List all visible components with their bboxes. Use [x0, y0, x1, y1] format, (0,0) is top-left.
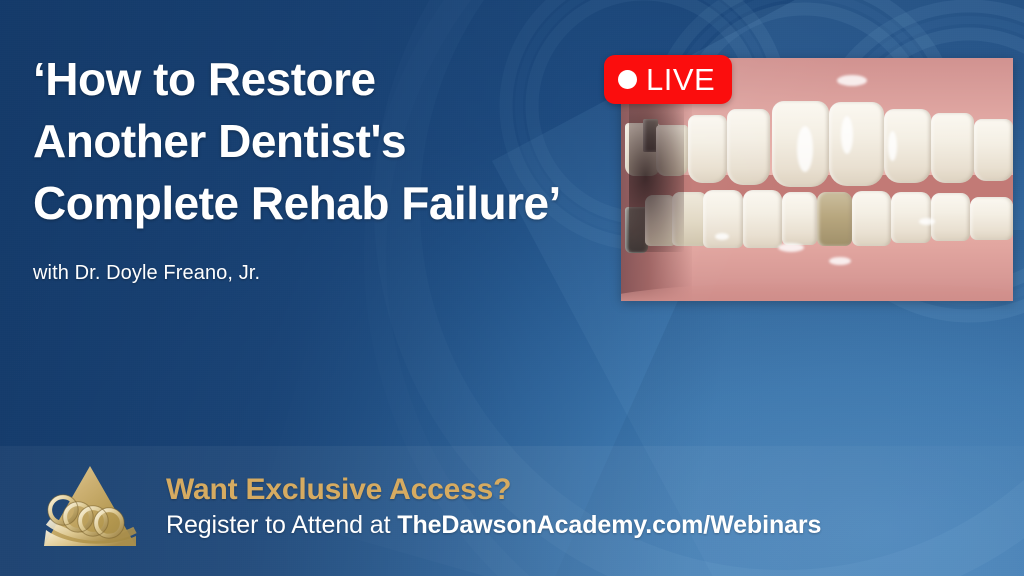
live-dot-icon [618, 70, 637, 89]
tooth-lower-6 [782, 192, 817, 245]
tooth-lower-8 [852, 191, 891, 246]
live-badge: LIVE [604, 55, 732, 104]
specular-highlight [841, 116, 853, 154]
specular-highlight [715, 233, 729, 240]
cta-heading: Want Exclusive Access? [166, 473, 821, 507]
oral-shadow [629, 102, 684, 253]
tooth-lower-7-discolored [817, 192, 852, 247]
cta-subline: Register to Attend at TheDawsonAcademy.c… [166, 511, 821, 540]
tooth-upper-7-central [829, 102, 884, 186]
cta-prefix: Register to Attend at [166, 511, 397, 539]
tooth-upper-4 [688, 115, 727, 182]
page-title-line-3: Complete Rehab Failure’ [33, 172, 603, 234]
tooth-lower-5 [743, 190, 782, 248]
dawson-academy-logo-icon [36, 460, 144, 552]
specular-highlight [888, 131, 897, 161]
title-block: ‘How to Restore Another Dentist's Comple… [33, 48, 603, 285]
webinar-promo-slide: ‘How to Restore Another Dentist's Comple… [0, 0, 1024, 576]
footer: Want Exclusive Access? Register to Atten… [36, 460, 821, 552]
tooth-lower-10 [931, 193, 970, 241]
tooth-lower-11 [970, 197, 1013, 240]
speaker-name: with Dr. Doyle Freano, Jr. [33, 262, 603, 285]
tooth-upper-9-canine [931, 113, 974, 182]
live-badge-label: LIVE [646, 64, 715, 95]
tooth-upper-5 [727, 109, 770, 185]
footer-text: Want Exclusive Access? Register to Atten… [166, 473, 821, 540]
page-title-line-2: Another Dentist's [33, 110, 603, 172]
specular-highlight [837, 75, 867, 86]
tooth-upper-10 [974, 119, 1013, 180]
cta-url[interactable]: TheDawsonAcademy.com/Webinars [397, 511, 821, 539]
specular-highlight [778, 243, 804, 252]
page-title-line-1: ‘How to Restore [33, 48, 603, 110]
